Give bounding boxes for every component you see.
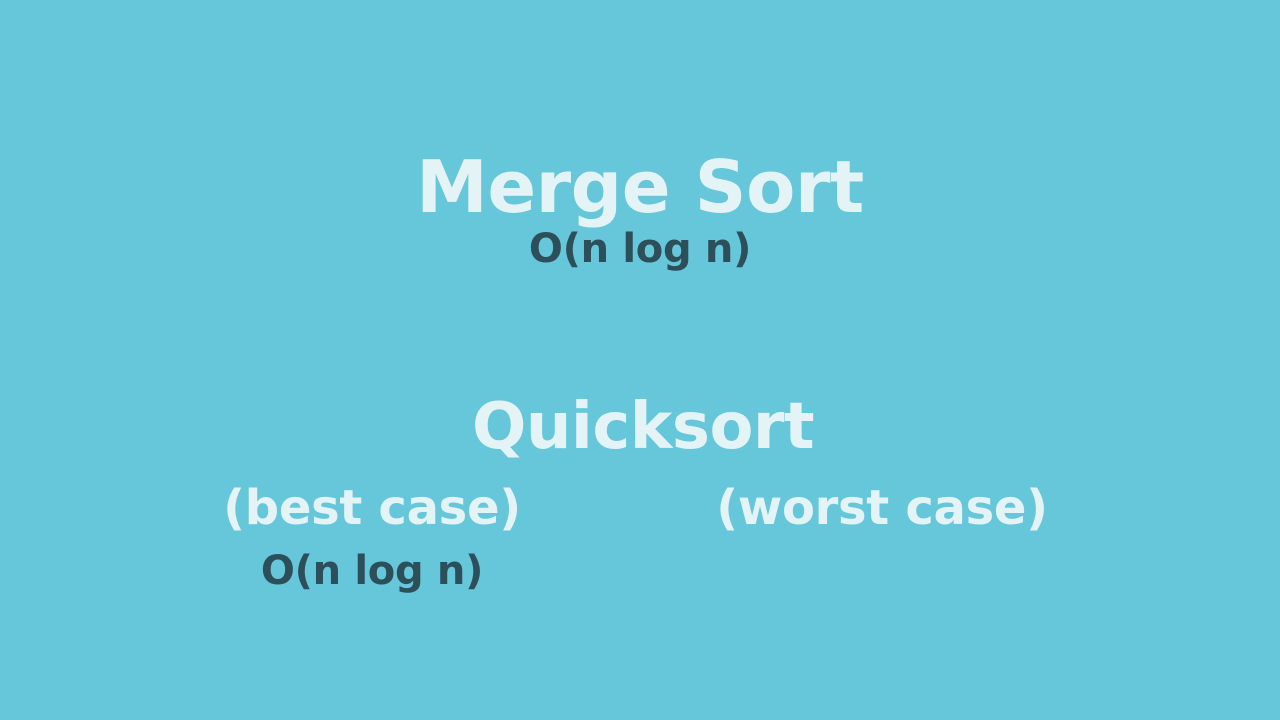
quicksort-worst-case-label: (worst case) (716, 484, 1047, 532)
merge-sort-block: Merge Sort O(n log n) (0, 0, 1280, 720)
merge-sort-complexity: O(n log n) (529, 229, 751, 269)
quicksort-worst-case-complexity (882, 551, 883, 591)
slide-canvas: Merge Sort O(n log n) Quicksort (best ca… (0, 0, 1280, 720)
quicksort-block: Quicksort (best case) O(n log n) (worst … (0, 0, 1280, 720)
quicksort-best-case-complexity: O(n log n) (261, 551, 483, 591)
merge-sort-title: Merge Sort (416, 151, 864, 223)
quicksort-title: Quicksort (472, 395, 814, 459)
quicksort-best-case-label: (best case) (223, 484, 521, 532)
